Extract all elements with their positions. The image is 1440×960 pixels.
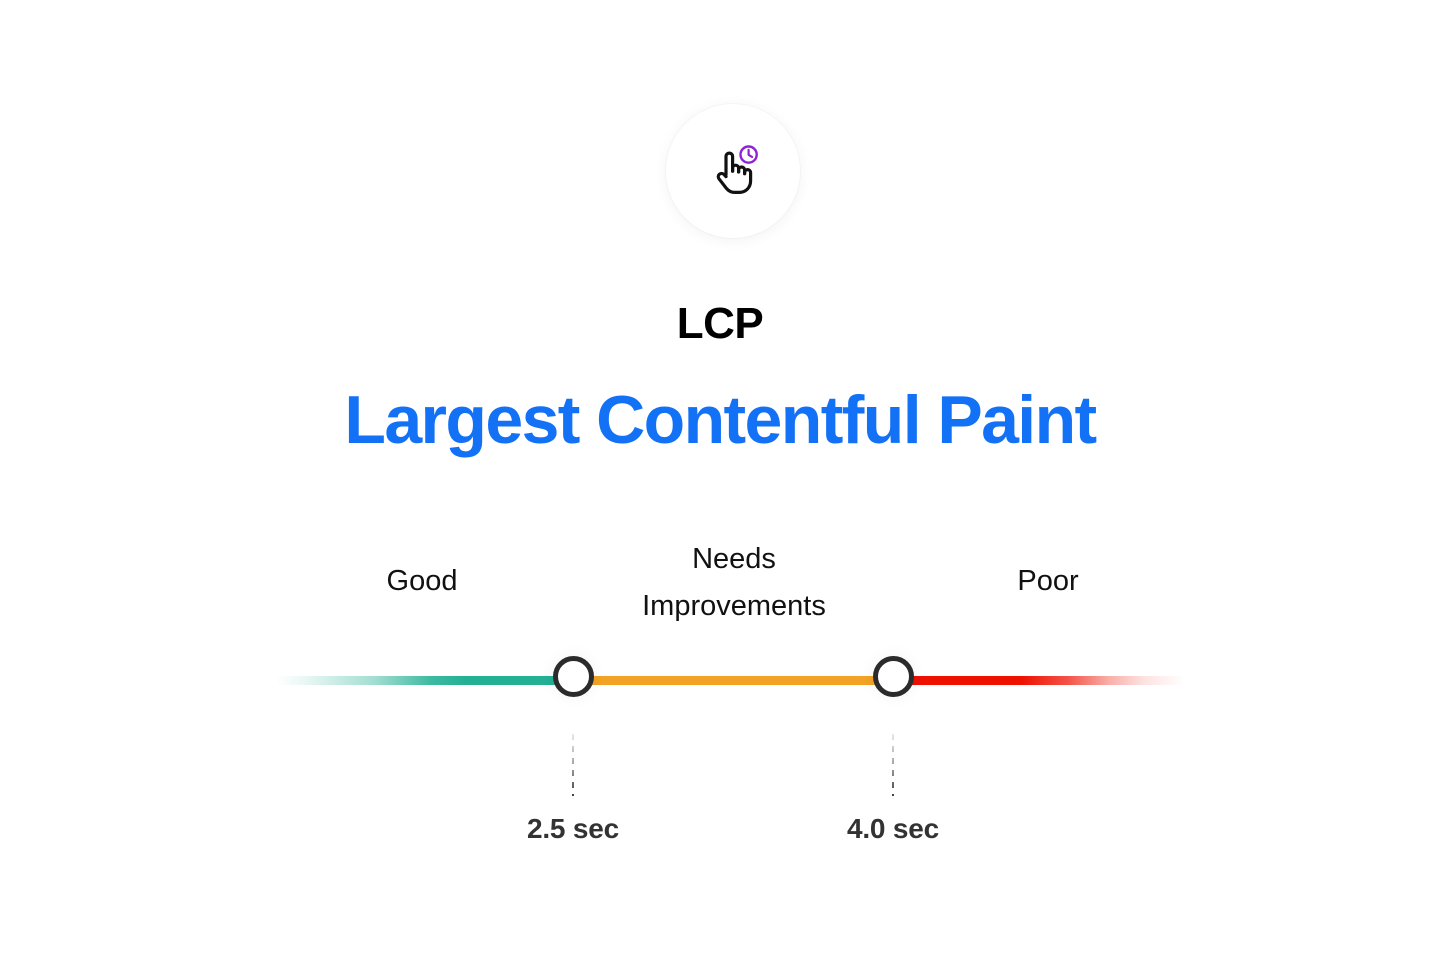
clock-badge-icon xyxy=(741,147,757,163)
threshold-tick-line-1 xyxy=(572,734,574,796)
threshold-value-1: 2.5 sec xyxy=(443,813,703,845)
hand-pointer-clock-icon xyxy=(702,140,764,202)
threshold-marker-4-0s[interactable] xyxy=(873,656,914,697)
zone-label-good: Good xyxy=(282,558,562,605)
scale-segment-poor xyxy=(894,676,1184,685)
threshold-tick-line-2 xyxy=(892,734,894,796)
threshold-marker-2-5s[interactable] xyxy=(553,656,594,697)
scale-segment-needs-improvements xyxy=(574,676,894,685)
scale-track xyxy=(276,676,1184,685)
scale-segment-good xyxy=(276,676,574,685)
metric-icon-container xyxy=(666,104,800,238)
metric-abbreviation: LCP xyxy=(0,302,1440,346)
metric-title: Largest Contentful Paint xyxy=(0,385,1440,456)
threshold-value-2: 4.0 sec xyxy=(763,813,1023,845)
zone-label-needs-improvements: Needs Improvements xyxy=(574,536,894,630)
zone-label-poor: Poor xyxy=(908,558,1188,605)
threshold-scale: Good Needs Improvements Poor 2.5 sec 4.0… xyxy=(0,530,1440,870)
lcp-metric-infographic: LCP Largest Contentful Paint Good Needs … xyxy=(0,0,1440,960)
